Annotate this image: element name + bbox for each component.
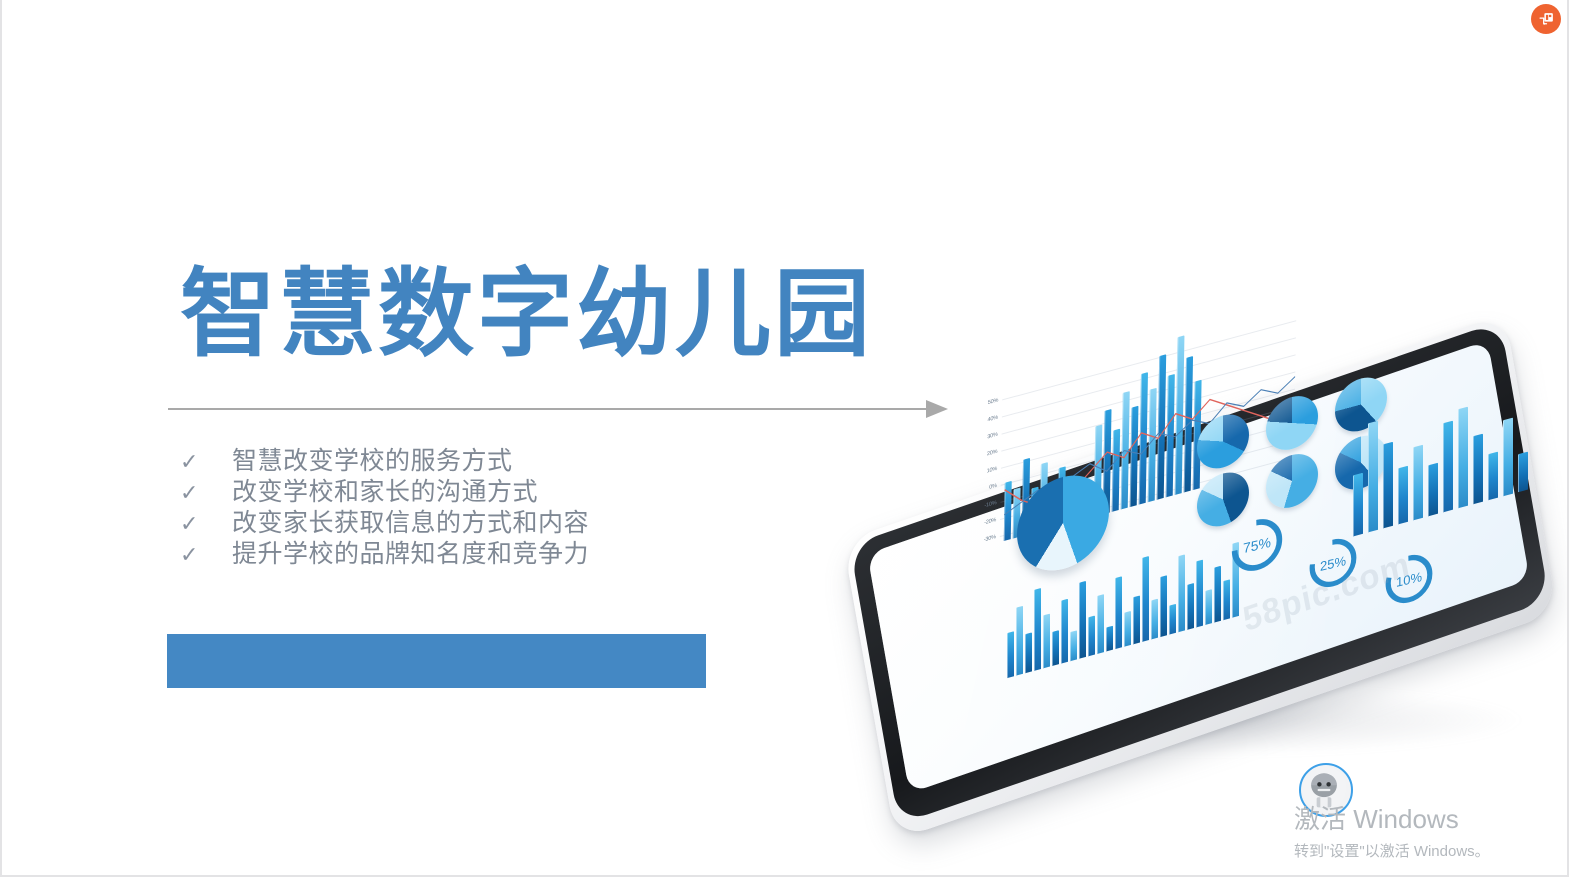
- activation-subtitle: 转到"设置"以激活 Windows。: [1294, 840, 1564, 861]
- axis-tick: -20%: [984, 517, 996, 526]
- chart-bar: [1413, 444, 1423, 520]
- list-item: ✓ 改变学校和家长的沟通方式: [180, 472, 740, 503]
- chart-bar: [1151, 598, 1158, 639]
- axis-tick: 0%: [989, 483, 997, 491]
- axis-tick: 20%: [987, 449, 998, 458]
- tablet-analytics-illustration: 50% 40% 30% 20% 10% 0% -10% -20% -30%: [847, 355, 1569, 775]
- list-item: ✓ 智慧改变学校的服务方式: [180, 441, 740, 472]
- chart-bar: [1088, 615, 1095, 656]
- presentation-slide: 智慧数字幼儿园 ✓ 智慧改变学校的服务方式 ✓ 改变学校和家长的沟通方式 ✓ 改…: [0, 0, 1569, 877]
- axis-tick: 50%: [988, 397, 999, 406]
- axis-tick: 10%: [987, 466, 998, 475]
- check-icon: ✓: [180, 514, 232, 536]
- chart-bar: [1079, 581, 1086, 659]
- accent-placeholder-bar[interactable]: [167, 634, 706, 688]
- list-item: ✓ 提升学校的品牌知名度和竞争力: [180, 534, 740, 565]
- slide-title: 智慧数字幼儿园: [180, 262, 873, 368]
- axis-tick: -10%: [984, 500, 996, 509]
- chart-bar: [1428, 463, 1438, 516]
- list-item-label: 提升学校的品牌知名度和竞争力: [232, 534, 589, 570]
- activation-title: 激活 Windows: [1294, 805, 1564, 834]
- chart-bar: [1488, 452, 1498, 500]
- chart-bar: [1169, 604, 1176, 635]
- divider-line: [168, 408, 928, 410]
- chart-bar: [1139, 372, 1148, 504]
- chart-bar: [1223, 579, 1230, 620]
- chart-bar: [1205, 589, 1212, 625]
- chart-bar: [1473, 433, 1483, 504]
- axis-tick: -30%: [984, 534, 996, 543]
- chart-bar: [1196, 560, 1203, 628]
- arrow-divider: [168, 399, 954, 419]
- chart-bar: [1178, 554, 1185, 632]
- check-icon: ✓: [180, 452, 232, 474]
- chart-bar: [1025, 632, 1032, 673]
- check-icon: ✓: [180, 545, 232, 567]
- windows-activation-watermark: 激活 Windows 转到"设置"以激活 Windows。: [1294, 805, 1564, 861]
- chart-bar: [1157, 354, 1167, 500]
- chart-bar: [1214, 566, 1221, 623]
- chart-bar: [1160, 575, 1167, 637]
- chart-bar: [1133, 595, 1140, 644]
- list-item: ✓ 改变家长获取信息的方式和内容: [180, 503, 740, 534]
- chart-bar: [1007, 632, 1014, 679]
- chart-bar: [1142, 556, 1149, 642]
- chart-bar: [1518, 452, 1528, 493]
- chart-bar: [1443, 421, 1453, 512]
- chart-bar: [1004, 481, 1012, 541]
- chart-bar: [1016, 605, 1023, 675]
- chart-bar: [1070, 630, 1077, 661]
- chart-bar: [1052, 630, 1059, 666]
- chart-bar: [1148, 388, 1157, 502]
- chart-bar: [1115, 576, 1122, 649]
- chart-bar: [1112, 429, 1120, 512]
- chart-bar: [1175, 336, 1185, 495]
- bullet-list: ✓ 智慧改变学校的服务方式 ✓ 改变学校和家长的沟通方式 ✓ 改变家长获取信息的…: [180, 441, 740, 565]
- check-icon: ✓: [180, 483, 232, 505]
- chart-bar: [1121, 391, 1130, 510]
- chart-bar: [1061, 599, 1068, 664]
- chart-axis-labels: 50% 40% 30% 20% 10% 0% -10% -20% -30%: [964, 394, 1001, 554]
- chart-bar: [1124, 611, 1131, 647]
- chart-bar: [1130, 406, 1139, 507]
- axis-tick: 40%: [987, 415, 998, 424]
- axis-tick: 30%: [987, 432, 998, 441]
- chart-bar: [1187, 583, 1194, 630]
- chart-bar: [1166, 374, 1175, 497]
- chart-bar: [1458, 407, 1468, 508]
- chart-bar: [1097, 594, 1104, 654]
- chart-bar: [1106, 626, 1113, 652]
- chart-bar: [1043, 614, 1050, 668]
- chart-bar: [1503, 418, 1513, 497]
- percent-ring-75: 75%: [1229, 511, 1285, 580]
- presentation-app-icon[interactable]: [1531, 4, 1561, 34]
- chart-bar: [1034, 587, 1041, 670]
